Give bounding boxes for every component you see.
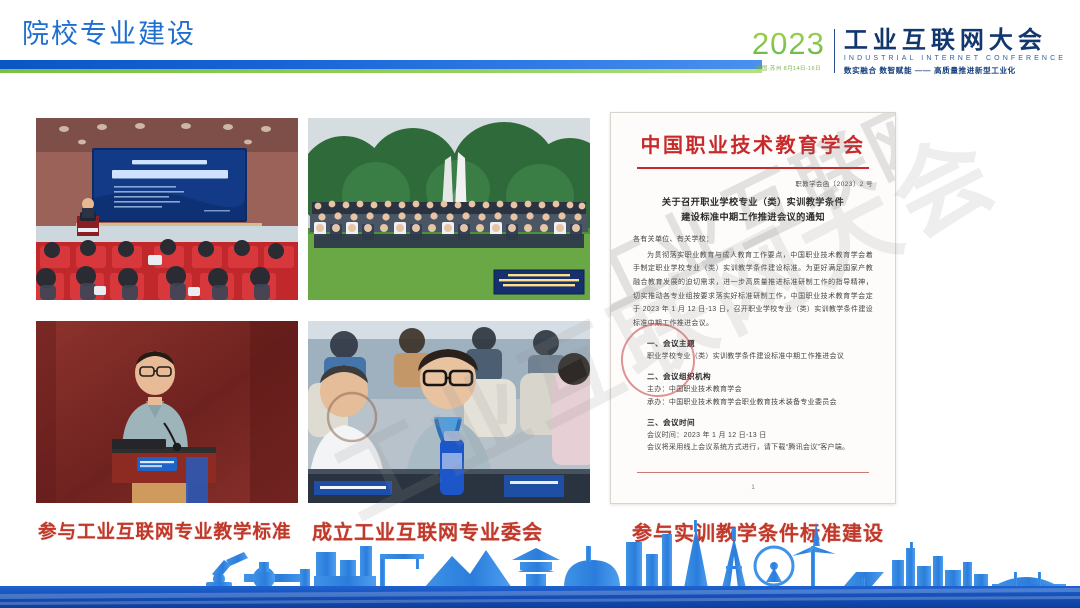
logo-name-cn: 工业互联网大会 [844,28,1066,53]
document-paragraph: 为贯彻落实职业教育与成人教育工作要点，中国职业技术教育学会着手制定职业学校专业（… [633,249,873,331]
document-page: 工业互联网 中国职业技术教育学会 职教学会函〔2023〕2 号 关于召开职业学校… [611,113,895,503]
ferris-wheel-icon [755,547,793,585]
water-bottle [440,431,464,495]
footer-band-texture [0,588,1080,605]
caption-teaching-standards: 参与工业互联网专业教学标准 [38,518,292,544]
group-photo-illustration [308,118,590,300]
speaker-illustration [36,321,298,503]
city-buildings-icon [892,542,988,588]
bridge-icon [992,572,1066,588]
logo-year: 2023 [752,28,825,59]
document-title: 关于召开职业学校专业（类）实训教学条件 建设标准中期工作推进会议的通知 [633,195,873,225]
page-title: 院校专业建设 [22,12,196,51]
document-section-2-body2: 承办：中国职业技术教育学会职业教育技术装备专业委员会 [647,397,873,410]
document-page-number: 1 [611,485,895,491]
logo-date-location: 中国·苏州 8月14日-16日 [756,64,821,72]
photo-audience [308,321,590,503]
pipeline-icon [244,562,310,589]
document-section-3-body2: 会议将采用线上会议系统方式进行，请下载“腾讯会议”客户端。 [647,442,873,455]
audience-seats [36,239,298,300]
document-scan: 工业互联网 中国职业技术教育学会 职教学会函〔2023〕2 号 关于召开职业学校… [610,112,896,504]
logo-slogan: 数实融合 数智赋能 —— 高质量推进新型工业化 [844,65,1066,76]
photo-conference-hall [36,118,298,300]
logo-text-block: 工业互联网大会 INDUSTRIAL INTERNET CONFERENCE 数… [844,28,1066,76]
document-organization: 中国职业技术教育学会 [633,129,873,158]
caption-committee: 成立工业互联网专业委会 [312,516,543,545]
document-section-2-heading: 二、会议组织机构 [647,371,873,382]
caption-training-standards: 参与实训教学条件标准建设 [632,517,884,546]
photo-speaker [36,321,298,503]
document-salutation: 各有关单位、有关学校： [633,234,873,244]
slide-root: 院校专业建设 2023 中国·苏州 8月14日-16日 工业互联网大会 INDU… [0,0,1080,608]
document-footer-rule [637,472,869,473]
group-photo-banner [494,270,584,294]
conference-hall-illustration [36,118,298,300]
factory-icon [314,546,376,588]
document-section-1-body: 职业学校专业（类）实训教学条件建设标准中期工作推进会议 [647,351,873,364]
audience-badge [314,481,392,495]
logo-year-block: 2023 中国·苏州 8月14日-16日 [752,28,834,72]
robot-arm-icon [206,552,248,587]
header-divider-accent [0,69,762,73]
logo-divider [834,29,835,73]
logo-name-en: INDUSTRIAL INTERNET CONFERENCE [844,55,1066,62]
document-section-3-heading: 三、会议时间 [647,417,873,428]
mountain-shape [424,550,512,588]
audience-illustration [308,321,590,503]
dome-building-icon [564,546,620,588]
document-title-line2: 建设标准中期工作推进会议的通知 [633,210,873,225]
document-reference-number: 职教学会函〔2023〕2 号 [633,179,873,188]
document-title-line1: 关于召开职业学校专业（类）实训教学条件 [633,195,873,210]
footer-band [0,586,1080,608]
crane-icon [380,554,424,588]
document-section-2-body: 主办：中国职业技术教育学会 [647,384,873,397]
photo-group [308,118,590,300]
conference-logo: 2023 中国·苏州 8月14日-16日 工业互联网大会 INDUSTRIAL … [752,28,1066,82]
document-section-3-body: 会议时间：2023 年 1 月 12 日-13 日 [647,430,873,443]
crowd-rows [310,201,588,248]
document-red-rule [637,167,869,169]
solar-panel-icon [844,572,884,588]
header-divider-bar [0,60,762,69]
document-section-1-heading: 一、会议主题 [647,338,873,349]
pagoda-icon [512,548,560,588]
